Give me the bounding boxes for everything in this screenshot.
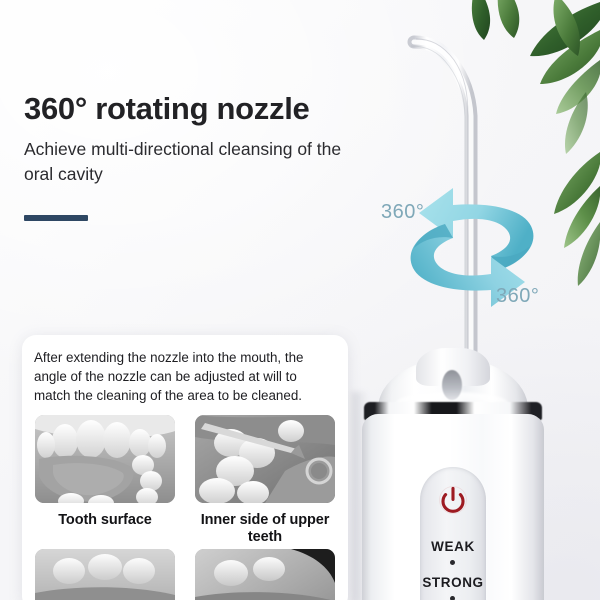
page-title: 360° rotating nozzle xyxy=(24,92,309,126)
rotation-arrow-top xyxy=(419,188,533,270)
info-card-text: After extending the nozzle into the mout… xyxy=(34,348,336,405)
leaf-top-right xyxy=(530,0,600,154)
accent-divider xyxy=(24,215,88,221)
device-nozzle-socket xyxy=(442,370,462,400)
thumbnail-grid: Tooth surface xyxy=(35,415,335,600)
rotation-label-bottom: 360° xyxy=(496,285,539,308)
mode-label-strong: STRONG xyxy=(420,575,486,590)
thumbnail-cell xyxy=(35,549,175,600)
mode-indicator-weak xyxy=(450,560,455,565)
product-feature-image: 360° rotating nozzle Achieve multi-direc… xyxy=(0,0,600,600)
thumbnail-image-inner-upper-teeth[interactable] xyxy=(195,415,335,503)
thumbnail-caption: Inner side of upper teeth xyxy=(195,503,335,545)
thumbnail-image-teeth-closeup[interactable] xyxy=(35,549,175,600)
thumbnail-cell xyxy=(195,549,335,600)
thumbnail-cell: Tooth surface xyxy=(35,415,175,545)
thumbnail-caption: Tooth surface xyxy=(35,503,175,529)
leaf-right-middle xyxy=(554,152,600,286)
rotation-label-top: 360° xyxy=(381,201,424,224)
page-subtitle: Achieve multi-directional cleansing of t… xyxy=(24,137,354,187)
leaf-top-left xyxy=(472,0,519,40)
power-icon[interactable] xyxy=(438,485,468,515)
thumbnail-image-teeth-tool[interactable] xyxy=(195,549,335,600)
mode-label-weak: WEAK xyxy=(420,539,486,554)
water-flosser-device: WEAK STRONG xyxy=(356,330,548,600)
thumbnail-cell: Inner side of upper teeth xyxy=(195,415,335,545)
mode-indicator-strong xyxy=(450,596,455,600)
thumbnail-image-tooth-surface[interactable] xyxy=(35,415,175,503)
info-card: After extending the nozzle into the mout… xyxy=(22,335,348,600)
